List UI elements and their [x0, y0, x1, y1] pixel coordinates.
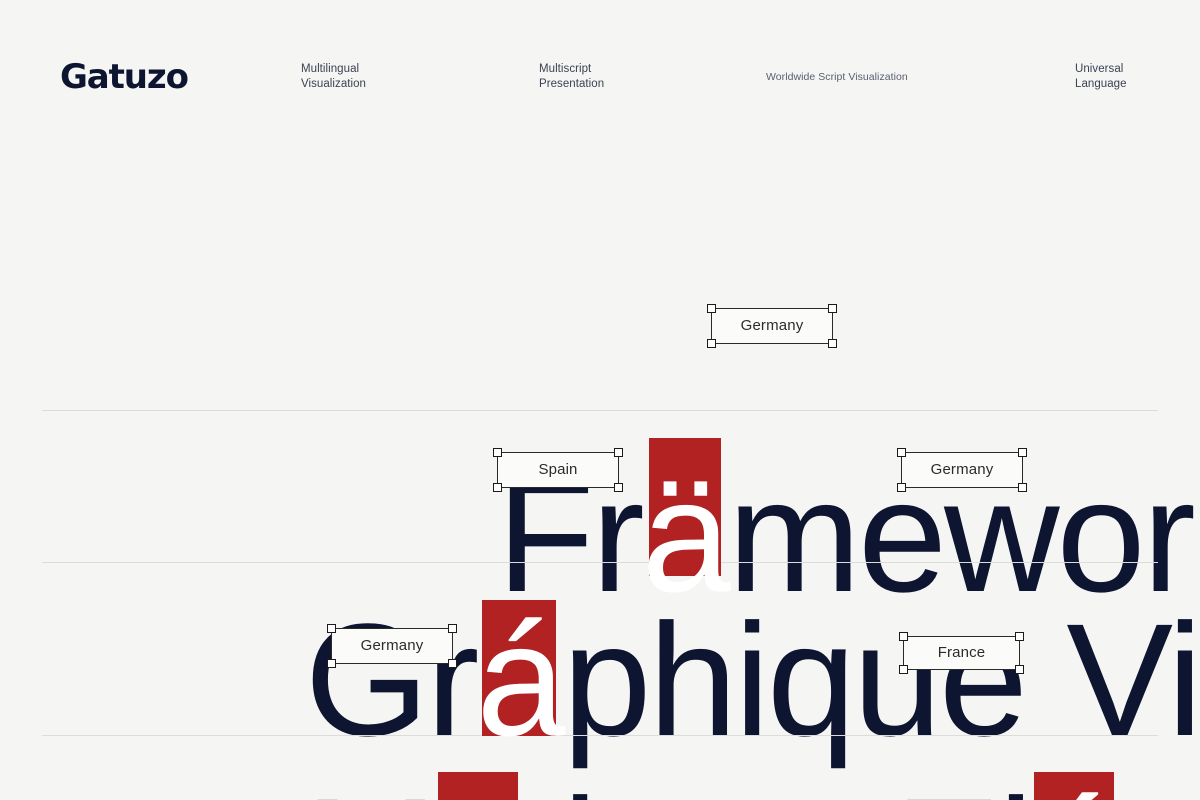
glyph-run: tione El	[521, 765, 1031, 800]
selection-box-germany[interactable]: Germany	[331, 628, 453, 664]
selection-box-spain[interactable]: Spain	[497, 452, 619, 488]
page-header: Gatuzo Multilingual Visualization Multis…	[0, 0, 1200, 130]
selection-label: Germany	[931, 462, 994, 478]
header-item-multiscript-presentation: Multiscript Presentation	[539, 62, 604, 92]
selection-label: Germany	[741, 318, 804, 334]
header-item-multilingual-visualization: Multilingual Visualization	[301, 62, 366, 92]
baseline-rule	[42, 410, 1158, 411]
glyph-run: M	[305, 765, 435, 800]
selection-box-germany[interactable]: Germany	[901, 452, 1023, 488]
brand-logo[interactable]: Gatuzo	[60, 60, 188, 94]
resize-handle-top-right[interactable]	[614, 448, 623, 457]
selection-box-france[interactable]: France	[903, 636, 1020, 670]
highlighted-glyph-e-acute[interactable]: é	[1031, 765, 1117, 800]
resize-handle-top-left[interactable]	[899, 632, 908, 641]
resize-handle-bottom-right[interactable]	[614, 483, 623, 492]
resize-handle-bottom-right[interactable]	[1015, 665, 1024, 674]
highlighted-glyph-o-umlaut[interactable]: ö	[435, 765, 521, 800]
resize-handle-top-right[interactable]	[448, 624, 457, 633]
specimen-canvas: Gatuzo Multilingual Visualization Multis…	[0, 0, 1200, 800]
resize-handle-top-right[interactable]	[1015, 632, 1024, 641]
selection-label: Spain	[538, 462, 577, 478]
highlighted-glyph-a-umlaut[interactable]: ä	[642, 446, 728, 625]
resize-handle-bottom-right[interactable]	[828, 339, 837, 348]
highlighted-glyph-a-acute[interactable]: á	[476, 590, 562, 769]
baseline-rule	[42, 562, 1158, 563]
resize-handle-top-right[interactable]	[1018, 448, 1027, 457]
selection-label: Germany	[361, 638, 424, 654]
resize-handle-top-left[interactable]	[707, 304, 716, 313]
resize-handle-bottom-left[interactable]	[493, 483, 502, 492]
selection-box-germany[interactable]: Germany	[711, 308, 833, 344]
header-item-worldwide-script-visualization: Worldwide Script Visualization	[766, 71, 908, 85]
baseline-rule	[42, 735, 1158, 736]
resize-handle-top-right[interactable]	[828, 304, 837, 313]
resize-handle-bottom-left[interactable]	[327, 659, 336, 668]
resize-handle-top-left[interactable]	[897, 448, 906, 457]
resize-handle-top-left[interactable]	[327, 624, 336, 633]
selection-label: France	[938, 645, 986, 661]
resize-handle-bottom-right[interactable]	[448, 659, 457, 668]
resize-handle-bottom-left[interactable]	[897, 483, 906, 492]
resize-handle-top-left[interactable]	[493, 448, 502, 457]
glyph-run: ment	[1117, 765, 1200, 800]
resize-handle-bottom-left[interactable]	[899, 665, 908, 674]
specimen-word-motione-element[interactable]: Mötione Elément	[56, 615, 1200, 800]
resize-handle-bottom-left[interactable]	[707, 339, 716, 348]
header-item-universal-language: Universal Language	[1075, 62, 1141, 92]
resize-handle-bottom-right[interactable]	[1018, 483, 1027, 492]
